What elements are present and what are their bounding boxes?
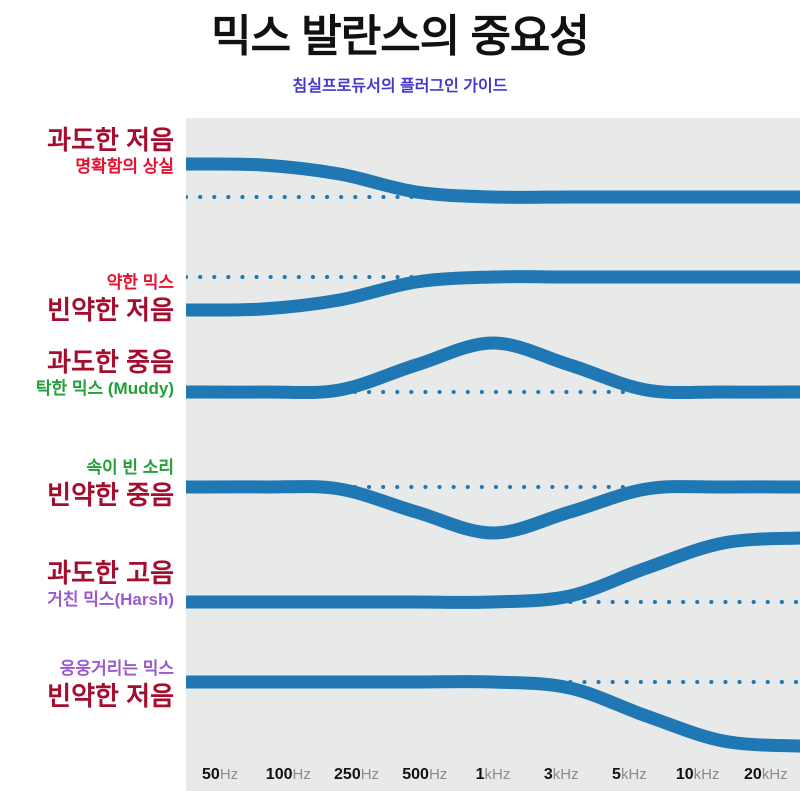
- x-axis: 50Hz100Hz250Hz500Hz1kHz3kHz5kHz10kHz20kH…: [186, 758, 800, 791]
- row-label-main: 빈약한 중음: [0, 479, 174, 511]
- reference-line-layer: [186, 197, 800, 682]
- x-axis-tick: 1kHz: [459, 765, 527, 785]
- row-label-main: 과도한 저음: [0, 124, 174, 156]
- row-label-mid-cut: 속이 빈 소리 빈약한 중음: [0, 457, 182, 511]
- header: 믹스 발란스의 중요성 침실프로듀서의 플러그인 가이드: [0, 0, 800, 112]
- row-label-treble-boost: 과도한 고음 거친 믹스(Harsh): [0, 557, 182, 611]
- x-axis-tick: 5kHz: [595, 765, 663, 785]
- eq-infographic-page: 믹스 발란스의 중요성 침실프로듀서의 플러그인 가이드 과도한 저음 명확함의…: [0, 0, 800, 791]
- eq-curve: [186, 277, 800, 310]
- row-label-sub: 탁한 믹스 (Muddy): [0, 378, 174, 400]
- eq-curves-svg: [186, 118, 800, 758]
- x-axis-tick: 100Hz: [254, 765, 322, 785]
- page-subtitle: 침실프로듀서의 플러그인 가이드: [0, 76, 800, 98]
- row-label-main: 과도한 중음: [0, 346, 174, 378]
- row-label-main: 빈약한 저음: [0, 680, 174, 712]
- page-title: 믹스 발란스의 중요성: [0, 10, 800, 64]
- x-axis-tick: 3kHz: [527, 765, 595, 785]
- x-axis-tick: 500Hz: [391, 765, 459, 785]
- eq-curve: [186, 487, 800, 533]
- row-label-bass-boost: 과도한 저음 명확함의 상실: [0, 124, 182, 178]
- row-label-column: 과도한 저음 명확함의 상실 약한 믹스 빈약한 저음 과도한 중음 탁한 믹스…: [0, 118, 186, 758]
- x-axis-tick: 10kHz: [664, 765, 732, 785]
- eq-curve: [186, 538, 800, 603]
- row-label-bass-cut: 약한 믹스 빈약한 저음: [0, 272, 182, 326]
- eq-plot-area: [186, 118, 800, 791]
- row-label-mid-boost: 과도한 중음 탁한 믹스 (Muddy): [0, 346, 182, 400]
- row-label-sub: 약한 믹스: [0, 272, 174, 294]
- curve-layer: [186, 164, 800, 746]
- row-label-main: 과도한 고음: [0, 557, 174, 589]
- row-label-main: 빈약한 저음: [0, 294, 174, 326]
- x-axis-tick: 20kHz: [732, 765, 800, 785]
- row-label-sub: 속이 빈 소리: [0, 457, 174, 479]
- row-label-treble-cut: 웅웅거리는 믹스 빈약한 저음: [0, 658, 182, 712]
- eq-curve: [186, 343, 800, 393]
- row-label-sub: 명확함의 상실: [0, 156, 174, 178]
- x-axis-tick: 250Hz: [322, 765, 390, 785]
- row-label-sub: 거친 믹스(Harsh): [0, 589, 174, 611]
- eq-curve: [186, 164, 800, 197]
- eq-curve: [186, 682, 800, 747]
- x-axis-tick: 50Hz: [186, 765, 254, 785]
- row-label-sub: 웅웅거리는 믹스: [0, 658, 174, 680]
